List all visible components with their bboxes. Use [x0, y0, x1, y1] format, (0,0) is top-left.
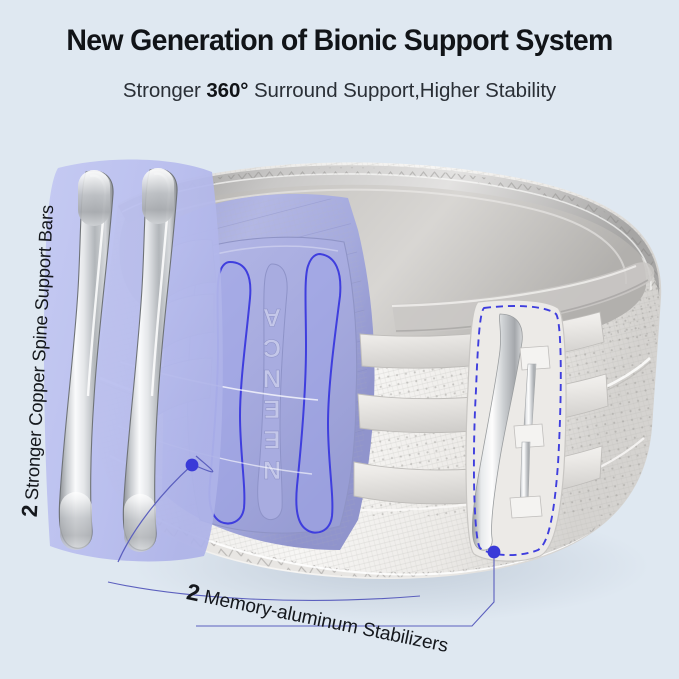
strap-clip-lower-bar [520, 442, 530, 504]
brand-logo-text: NEENCA [258, 301, 286, 484]
subtitle-text-after: Surround Support,Higher Stability [248, 79, 556, 102]
strap-clip-foot [510, 496, 542, 518]
subtitle-emphasis: 360° [206, 79, 248, 102]
memory-aluminum-stabilizer [466, 300, 566, 561]
product-feature-image: New Generation of Bionic Support System … [0, 0, 679, 679]
page-subtitle: Stronger 360° Surround Support,Higher St… [0, 79, 679, 104]
page-title: New Generation of Bionic Support System [12, 24, 667, 57]
subtitle-text-before: Stronger [123, 79, 206, 102]
anchor-dot-stabilizer [488, 546, 501, 559]
copper-spine-bars-callout [44, 159, 223, 561]
product-illustration: NEENCA [0, 126, 679, 679]
anchor-dot-spine-bars [186, 459, 199, 472]
callout-count-bars: 2 [17, 504, 43, 517]
